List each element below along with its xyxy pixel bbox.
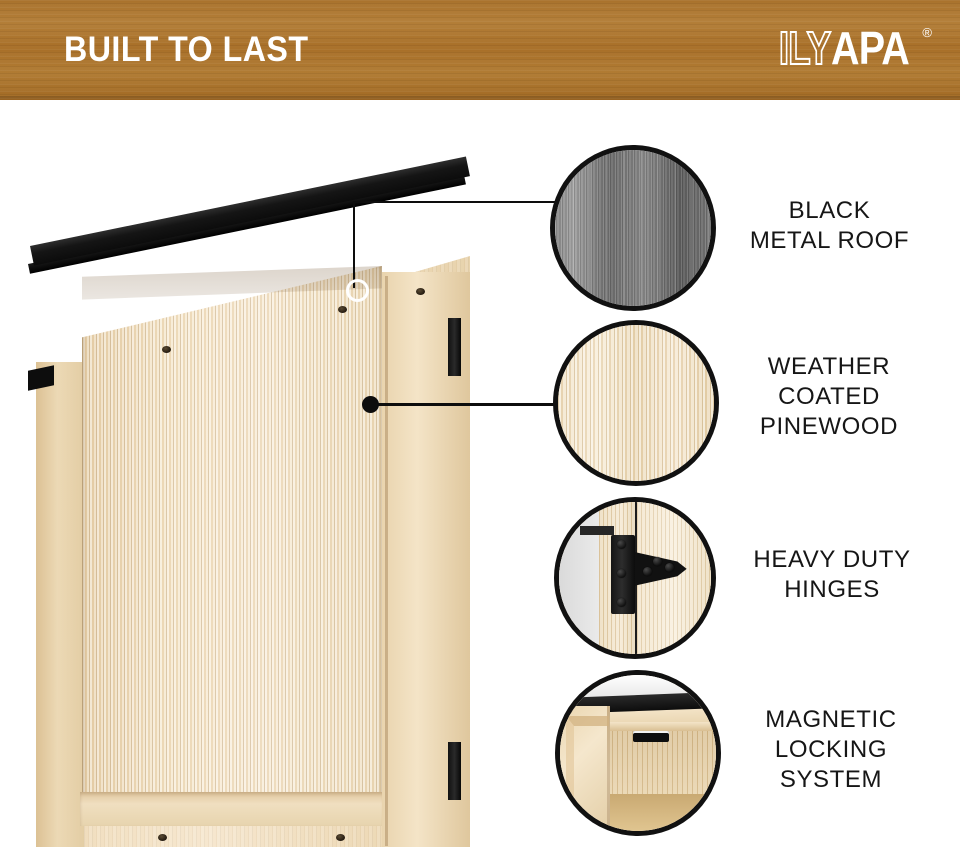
marker-weather-coated-pinewood bbox=[362, 396, 379, 413]
side-hinge-top bbox=[448, 318, 461, 376]
brand-logo-outline-text: ILY bbox=[779, 22, 830, 74]
feature-label-weather-coated-pinewood: WEATHER COATED PINEWOOD bbox=[714, 352, 944, 442]
mailbox-door-panel bbox=[82, 266, 382, 795]
screw-head bbox=[336, 834, 345, 841]
hinge-screw bbox=[617, 598, 626, 607]
infographic-page: BUILT TO LAST ILY APA ® bbox=[0, 0, 960, 847]
callout-circle-heavy-duty-hinges bbox=[554, 497, 716, 659]
pinewood-swatch bbox=[558, 325, 714, 481]
registered-trademark-icon: ® bbox=[922, 24, 932, 42]
feature-label-heavy-duty-hinges: HEAVY DUTY HINGES bbox=[720, 545, 944, 605]
marker-black-metal-roof bbox=[346, 279, 369, 302]
brand-logo-solid-text: APA bbox=[831, 22, 909, 74]
leader-line-pinewood bbox=[372, 403, 558, 406]
brushed-metal-swatch bbox=[555, 150, 711, 306]
lock-shelf-edge bbox=[604, 722, 716, 731]
screw-head bbox=[162, 346, 171, 353]
callout-circle-magnetic-locking-system bbox=[555, 670, 721, 836]
callout-circle-weather-coated-pinewood bbox=[553, 320, 719, 486]
hinge-background-gray bbox=[559, 502, 599, 654]
screw-head bbox=[158, 834, 167, 841]
mailbox-right-groove bbox=[385, 276, 388, 846]
hinge-screw bbox=[653, 557, 662, 566]
screw-head bbox=[338, 306, 347, 313]
leader-line-roof-horizontal bbox=[353, 201, 558, 203]
page-title: BUILT TO LAST bbox=[64, 28, 308, 72]
hinge-screw bbox=[617, 569, 626, 578]
mailbox-black-metal-roof bbox=[30, 157, 470, 266]
screw-head bbox=[416, 288, 425, 295]
magnetic-lock-photo bbox=[560, 675, 716, 831]
header-banner: BUILT TO LAST ILY APA ® bbox=[0, 0, 960, 100]
hinge-screw bbox=[643, 567, 652, 576]
product-photo-mailbox bbox=[0, 236, 470, 847]
mailbox-bottom-rail bbox=[80, 792, 384, 826]
leader-line-roof-vertical bbox=[353, 202, 355, 288]
side-hinge-bottom bbox=[448, 742, 461, 800]
magnetic-catch bbox=[633, 731, 669, 742]
hinge-dark-strip bbox=[580, 526, 613, 535]
feature-label-magnetic-locking-system: MAGNETIC LOCKING SYSTEM bbox=[718, 705, 944, 795]
mailbox-left-stile bbox=[36, 362, 84, 847]
hinge-screw bbox=[617, 540, 626, 549]
feature-label-black-metal-roof: BLACK METAL ROOF bbox=[722, 196, 937, 256]
hinge-photo bbox=[559, 502, 711, 654]
brand-logo: ILY APA ® bbox=[766, 22, 932, 78]
lock-interior-floor bbox=[607, 794, 716, 831]
callout-circle-black-metal-roof bbox=[550, 145, 716, 311]
lock-door-bevel bbox=[566, 716, 608, 832]
